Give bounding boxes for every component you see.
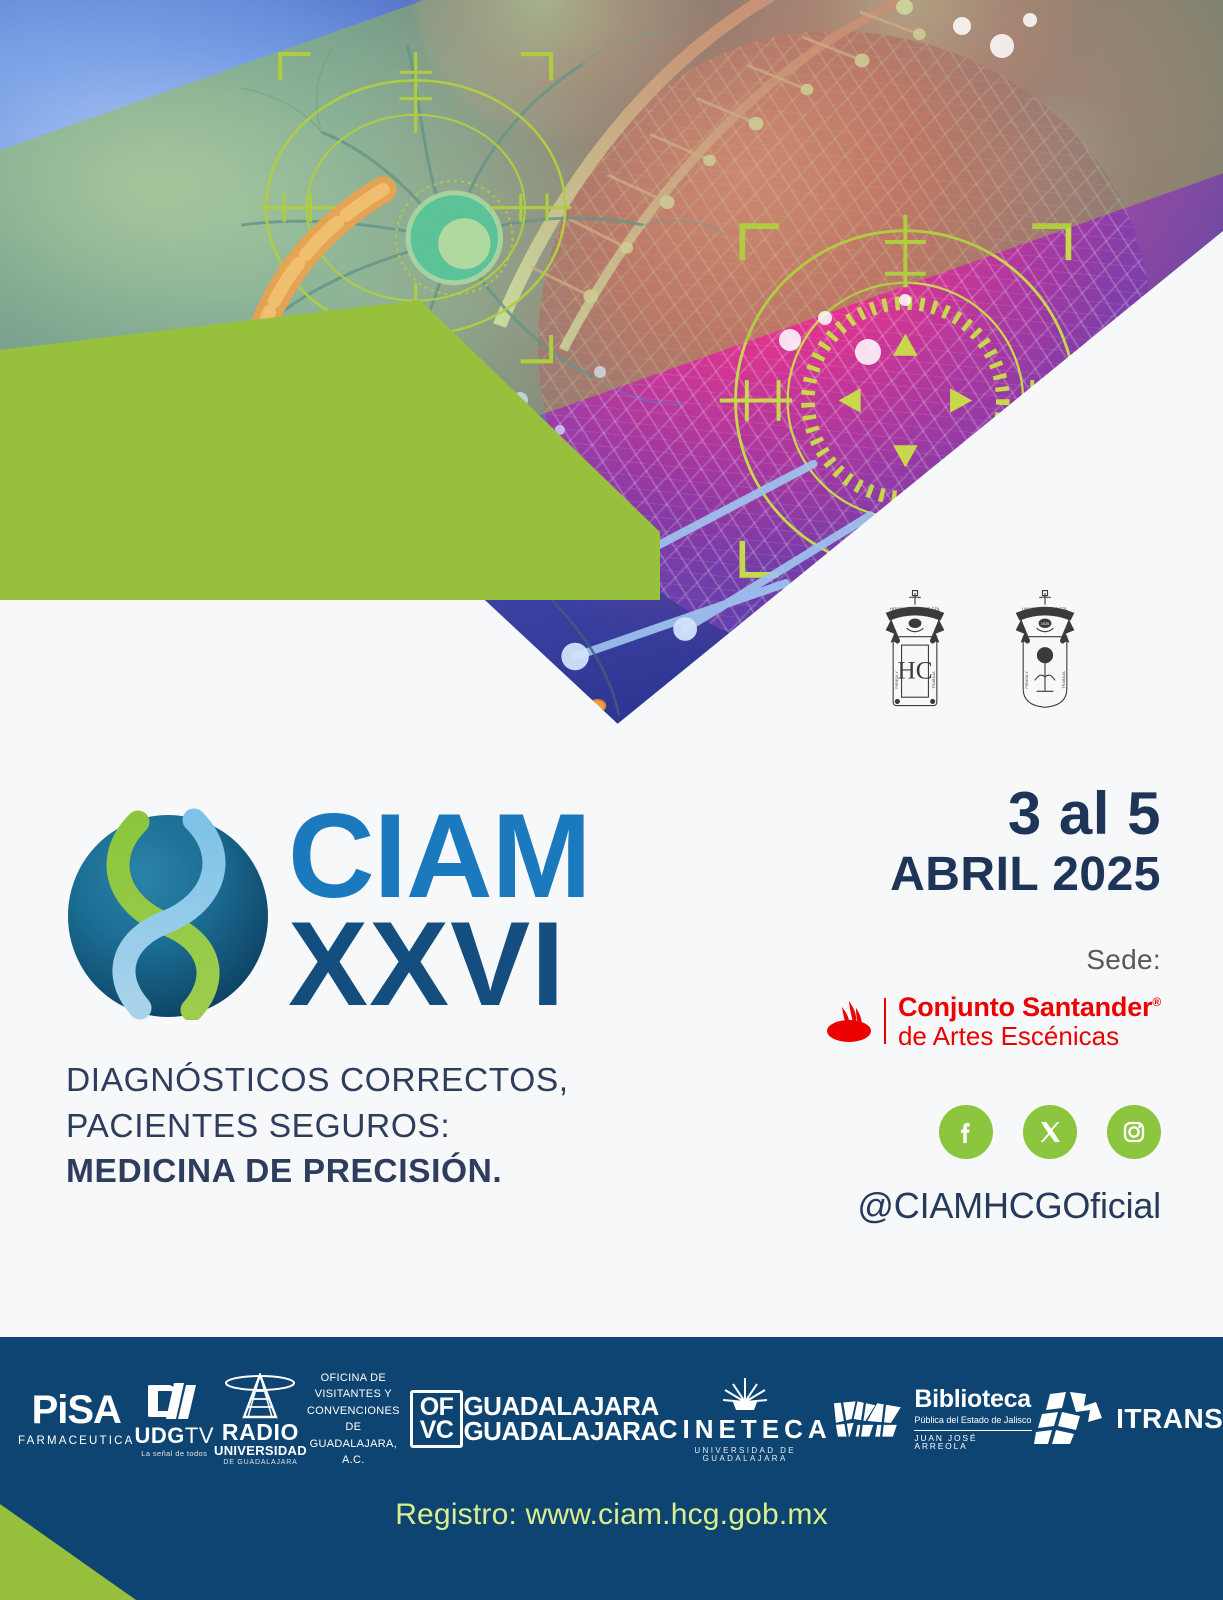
- udgtv-logo: UDGTV La señal de todos: [135, 1381, 215, 1458]
- cineteca-agave-icon: [717, 1376, 773, 1412]
- instagram-icon: [1119, 1117, 1149, 1147]
- radio-subtitle: DE GUADALAJARA: [214, 1459, 307, 1466]
- biblioteca-subtitle: Pública del Estado de Jalisco: [914, 1415, 1032, 1427]
- event-dates: 3 al 5 ABRIL 2025: [741, 780, 1161, 904]
- ofvc-text-2: VISITANTES Y CONVENCIONES: [307, 1386, 400, 1419]
- udgtv-tagline: La señal de todos: [135, 1450, 215, 1458]
- brand-block: CIAM XXVI DIAGNÓSTICOS CORRECTOS, PACIEN…: [62, 800, 662, 1195]
- tagline-line-2: PACIENTES SEGUROS:: [66, 1104, 662, 1150]
- hospital-civil-de-guadalajara-seal: HOSPITAL CIVIL DE GDL HC PIENSA Y TRABAJ…: [872, 588, 958, 714]
- social-handle[interactable]: @CIAMHCGOficial: [741, 1185, 1161, 1227]
- pisa-wordmark: PiSA: [18, 1390, 135, 1430]
- poster-root: HOSPITAL CIVIL DE GDL HC PIENSA Y TRABAJ…: [0, 0, 1223, 1600]
- venue-name-line-2: de Artes Escénicas: [898, 1022, 1161, 1051]
- ofvc-text-3: DE GUADALAJARA, A.C.: [307, 1419, 400, 1469]
- venue-trademark: ®: [1152, 995, 1161, 1009]
- institutional-seals: HOSPITAL CIVIL DE GDL HC PIENSA Y TRABAJ…: [862, 588, 1098, 716]
- biblioteca-mosaic-icon: [832, 1397, 905, 1441]
- venue-name-line-1: Conjunto Santander: [898, 992, 1152, 1022]
- event-date-month-year: ABRIL 2025: [741, 847, 1161, 904]
- sponsor-logos: PiSA FARMACEUTICA UDGTV La señal de todo…: [0, 1359, 1223, 1479]
- itrans-wordmark: ITRANS: [1116, 1405, 1223, 1433]
- tagline-line-3: MEDICINA DE PRECISIÓN.: [66, 1149, 662, 1195]
- cineteca-logo: CINETECA UNIVERSIDAD DE GUADALAJARA: [659, 1376, 832, 1463]
- venue-label: Sede:: [741, 944, 1161, 976]
- venue-divider: [884, 998, 886, 1044]
- biblioteca-wordmark: Biblioteca: [914, 1387, 1032, 1412]
- edition-xxvi: XXVI: [288, 910, 591, 1018]
- radio-text: RADIO: [214, 1421, 307, 1444]
- seal-motto-left-udg: PIENSA Y: [1025, 671, 1029, 689]
- radio-tower-icon: [221, 1373, 299, 1419]
- biblioteca-publica-jalisco-logo: Biblioteca Pública del Estado de Jalisco…: [832, 1387, 1032, 1451]
- footer-bar: PiSA FARMACEUTICA UDGTV La señal de todo…: [0, 1337, 1223, 1600]
- itrans-mark-icon: [1032, 1392, 1108, 1446]
- x-twitter-button[interactable]: [1023, 1105, 1077, 1159]
- event-tagline: DIAGNÓSTICOS CORRECTOS, PACIENTES SEGURO…: [66, 1058, 662, 1195]
- seal-year-udg: 1925: [1041, 622, 1049, 626]
- ofvc-text-1: OFICINA DE: [307, 1370, 400, 1387]
- venue-logo: Conjunto Santander® de Artes Escénicas: [741, 992, 1161, 1051]
- guadalajara-guadalajara-logo: GUADALAJARA GUADALAJARA: [463, 1394, 658, 1443]
- udg-text: UDG: [135, 1423, 185, 1448]
- seal-title-udg: UNIVERSIDAD DE GDL: [1022, 607, 1068, 612]
- udgtv-mark-icon: [148, 1381, 200, 1421]
- biblioteca-name: JUAN JOSÉ ARREOLA: [914, 1430, 1032, 1451]
- seal-motto-left-hcg: PIENSA Y: [895, 671, 899, 689]
- radio-universidad-logo: RADIO UNIVERSIDAD DE GUADALAJARA: [214, 1373, 307, 1466]
- cineteca-wordmark: CINETECA: [659, 1416, 832, 1442]
- pisa-subtitle: FARMACEUTICA: [18, 1436, 135, 1448]
- seal-title-hcg: HOSPITAL CIVIL DE GDL: [890, 607, 941, 612]
- venue-name: Conjunto Santander® de Artes Escénicas: [898, 992, 1161, 1051]
- event-date-days: 3 al 5: [741, 780, 1161, 847]
- seal-motto-right-udg: TRABAJA: [1062, 671, 1066, 689]
- main-content: CIAM XXVI DIAGNÓSTICOS CORRECTOS, PACIEN…: [0, 770, 1223, 1337]
- seal-initials-hc: HC: [898, 658, 933, 685]
- ofvc-box-line-2: VC: [420, 1419, 454, 1442]
- facebook-button[interactable]: [939, 1105, 993, 1159]
- itrans-udg-logo: ITRANS UDG: [1032, 1392, 1223, 1446]
- ciam-wordmark: CIAM XXVI: [288, 800, 591, 1018]
- social-links: [741, 1105, 1161, 1159]
- cineteca-subtitle: UNIVERSIDAD DE GUADALAJARA: [659, 1447, 832, 1463]
- universidad-de-guadalajara-seal: UNIVERSIDAD DE GDL 1925 PIENSA Y TRABAJA: [1002, 588, 1088, 714]
- gdl-line-2: GUADALAJARA: [463, 1419, 658, 1444]
- x-twitter-icon: [1036, 1118, 1064, 1146]
- event-details-column: 3 al 5 ABRIL 2025 Sede: Conjunto Santand…: [741, 780, 1161, 1227]
- registration-text[interactable]: Registro: www.ciam.hcg.gob.mx: [0, 1498, 1223, 1532]
- facebook-icon: [951, 1117, 981, 1147]
- seal-motto-right-hcg: TRABAJA: [932, 671, 936, 689]
- ciam-globe-helix-logo: [62, 806, 274, 1020]
- tv-text: TV: [185, 1423, 214, 1448]
- tagline-line-1: DIAGNÓSTICOS CORRECTOS,: [66, 1058, 662, 1104]
- acronym-ciam: CIAM: [288, 804, 591, 910]
- ofvc-logo: OFICINA DE VISITANTES Y CONVENCIONES DE …: [307, 1370, 464, 1469]
- ofvc-monogram: OF VC: [410, 1390, 464, 1448]
- pisa-farmaceutica-logo: PiSA FARMACEUTICA: [18, 1390, 135, 1448]
- santander-flame-icon: [826, 999, 872, 1043]
- universidad-text: UNIVERSIDAD: [214, 1444, 307, 1457]
- instagram-button[interactable]: [1107, 1105, 1161, 1159]
